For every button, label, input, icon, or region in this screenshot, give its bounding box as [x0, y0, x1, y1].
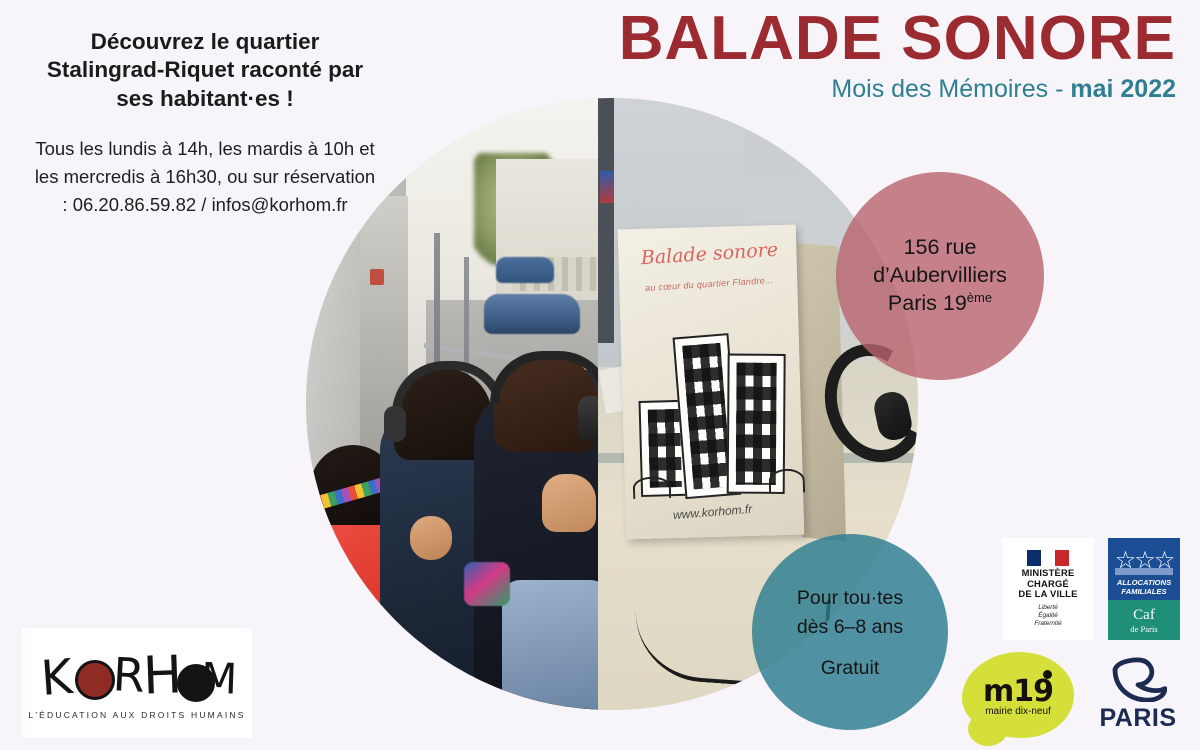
flag-white-band: [1041, 550, 1055, 566]
audience-line-2: dès 6–8 ans: [797, 613, 903, 641]
caf-upper-block: ☆☆☆ ALLOCATIONS FAMILIALES: [1108, 538, 1180, 600]
flag-red-band: [1055, 550, 1069, 566]
korhom-letter-h: H: [142, 645, 183, 706]
cardboard-box: Balade sonore au cœur du quartier Flandr…: [618, 224, 805, 539]
address-line-1: 156 rue: [904, 234, 977, 262]
m19-dot-icon: [1043, 670, 1052, 679]
m19-blob-bump: [968, 712, 1008, 746]
address-arrondissement-suffix: ème: [967, 290, 992, 305]
ministere-logo: MINISTÈRE CHARGÉ DE LA VILLE Liberté Éga…: [1002, 538, 1094, 640]
colorful-bag: [464, 562, 510, 606]
poster-canvas: Découvrez le quartier Stalingrad-Riquet …: [0, 0, 1200, 750]
page-title: BALADE SONORE: [576, 8, 1176, 70]
box-title-text: Balade sonore: [634, 238, 785, 269]
m19-wordmark: m19: [962, 674, 1074, 709]
wall-poster: [600, 171, 614, 203]
address-line-2: d’Aubervilliers: [873, 262, 1007, 290]
caf-location: de Paris: [1130, 624, 1157, 634]
child-jeans: [502, 580, 598, 710]
photo-street-walk: [306, 98, 598, 710]
korhom-letter-k: K: [39, 649, 74, 707]
korhom-wordmark: K R H M: [39, 646, 235, 708]
motto-fraternite: Fraternité: [1034, 620, 1061, 628]
audience-line-1: Pour tou·tes: [797, 584, 903, 612]
raised-hand: [542, 474, 596, 532]
caf-alloc-line-1: ALLOCATIONS: [1108, 578, 1180, 587]
ministere-name: MINISTÈRE CHARGÉ DE LA VILLE: [1018, 568, 1077, 600]
address-line-3: Paris 19ème: [888, 290, 992, 318]
headphone-cup-right: [578, 396, 598, 442]
window-grid-3: [736, 362, 777, 484]
drawing-bush-right: [768, 468, 805, 493]
korhom-letter-m: M: [200, 653, 238, 703]
caf-name: Caf: [1133, 607, 1155, 624]
paris-wordmark: PARIS: [1099, 704, 1176, 733]
headphone-cup-left: [384, 406, 406, 442]
address-circle: 156 rue d’Aubervilliers Paris 19ème: [836, 172, 1044, 380]
korhom-letter-r: R: [112, 647, 147, 703]
title-block: BALADE SONORE Mois des Mémoires - mai 20…: [576, 8, 1176, 104]
mairie-19-logo: m19 mairie dix-neuf: [962, 652, 1074, 738]
french-flag-icon: [1027, 550, 1069, 566]
car-far: [496, 257, 554, 283]
car-near: [484, 294, 580, 334]
flag-blue-band: [1027, 550, 1041, 566]
drawing-bush-left: [633, 476, 672, 499]
ministere-motto: Liberté Égalité Fraternité: [1034, 604, 1061, 628]
caf-allocations-text: ALLOCATIONS FAMILIALES: [1108, 578, 1180, 596]
korhom-logo: K R H M L'ÉDUCATION AUX DROITS HUMAINS: [22, 628, 252, 738]
caf-alloc-line-2: FAMILIALES: [1108, 587, 1180, 596]
motto-liberte: Liberté: [1034, 604, 1061, 612]
family-people-icon: ☆☆☆: [1115, 550, 1174, 572]
second-hand: [410, 516, 452, 560]
box-subtitle-text: au cœur du quartier Flandre...: [629, 274, 789, 294]
subtitle-date: mai 2022: [1070, 75, 1176, 103]
ministere-name-line-3: DE LA VILLE: [1018, 589, 1077, 600]
audience-circle: Pour tou·tes dès 6–8 ans Gratuit: [752, 534, 948, 730]
window-grid-2: [682, 342, 731, 489]
motto-egalite: Égalité: [1034, 612, 1061, 620]
paris-logo: PARIS: [1086, 656, 1190, 740]
street-sign-icon: [370, 269, 384, 285]
korhom-letter-o-red: [75, 660, 115, 700]
window-grid-1: [648, 408, 682, 487]
caf-lower-block: Caf de Paris: [1108, 600, 1180, 640]
m19-subtitle: mairie dix-neuf: [962, 706, 1074, 717]
wall-dark-strip: [598, 98, 614, 343]
korhom-tagline: L'ÉDUCATION AUX DROITS HUMAINS: [28, 710, 245, 720]
paris-boat-icon: [1109, 656, 1167, 702]
caf-logo: ☆☆☆ ALLOCATIONS FAMILIALES Caf de Paris: [1108, 538, 1180, 640]
box-url-text: www.korhom.fr: [637, 499, 788, 525]
address-city: Paris 19: [888, 291, 967, 315]
audience-price: Gratuit: [821, 657, 880, 680]
